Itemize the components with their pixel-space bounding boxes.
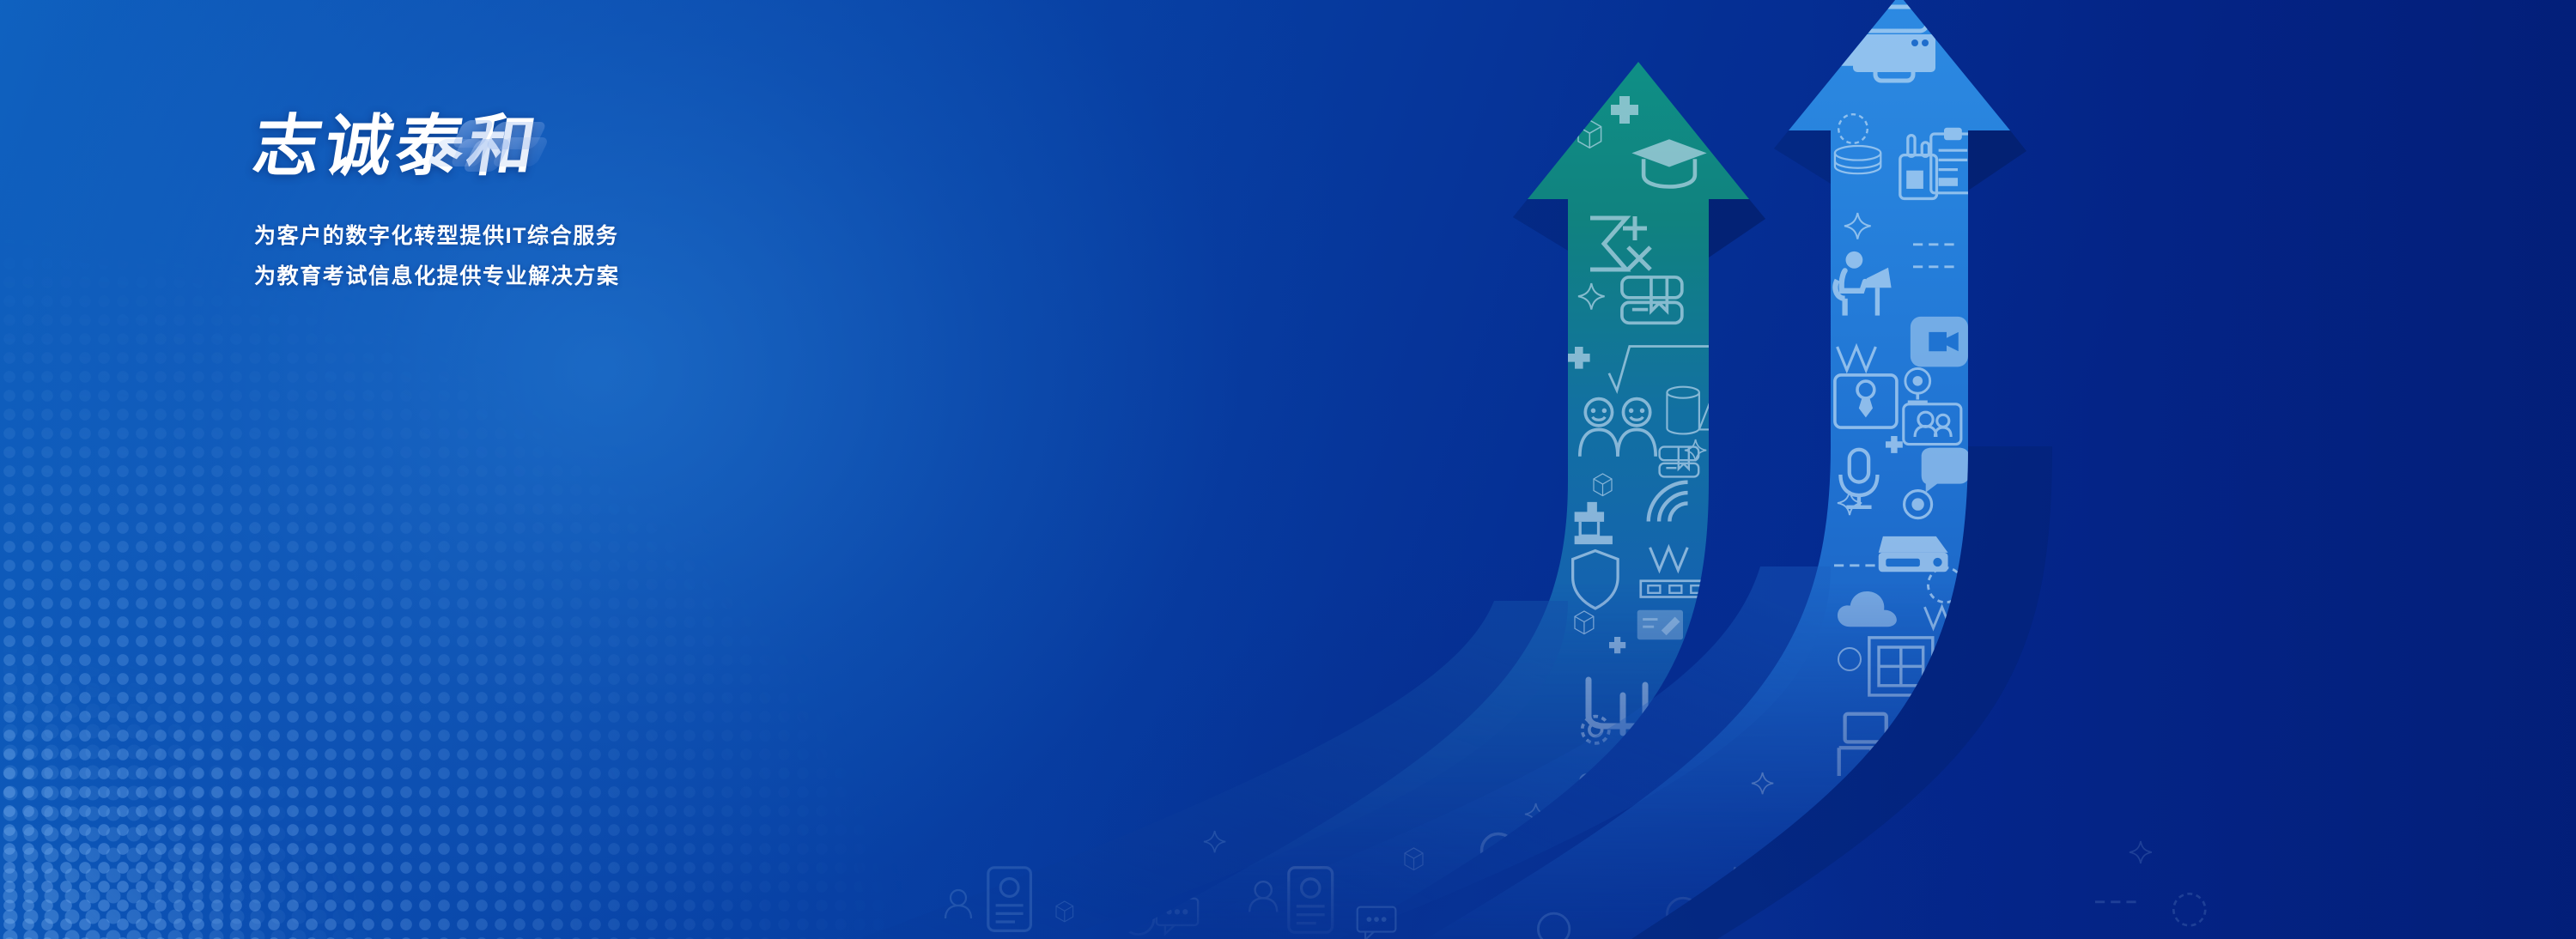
education-arrow-shadow [1709, 199, 1765, 257]
hero-banner: 志诚泰和 为客户的数字化转型提供IT综合服务 为教育考试信息化提供专业解决方案 [0, 0, 2576, 939]
tagline-line-2: 为教育考试信息化提供专业解决方案 [254, 260, 1027, 293]
title-row: 志诚泰和 [254, 101, 1027, 194]
tagline-line-1: 为客户的数字化转型提供IT综合服务 [254, 220, 1027, 252]
hero-copy: 志诚泰和 为客户的数字化转型提供IT综合服务 为教育考试信息化提供专业解决方案 [254, 101, 1027, 293]
it-arrow-shadow [1968, 130, 2026, 191]
parallelogram-tiles-logo-icon [433, 117, 527, 173]
